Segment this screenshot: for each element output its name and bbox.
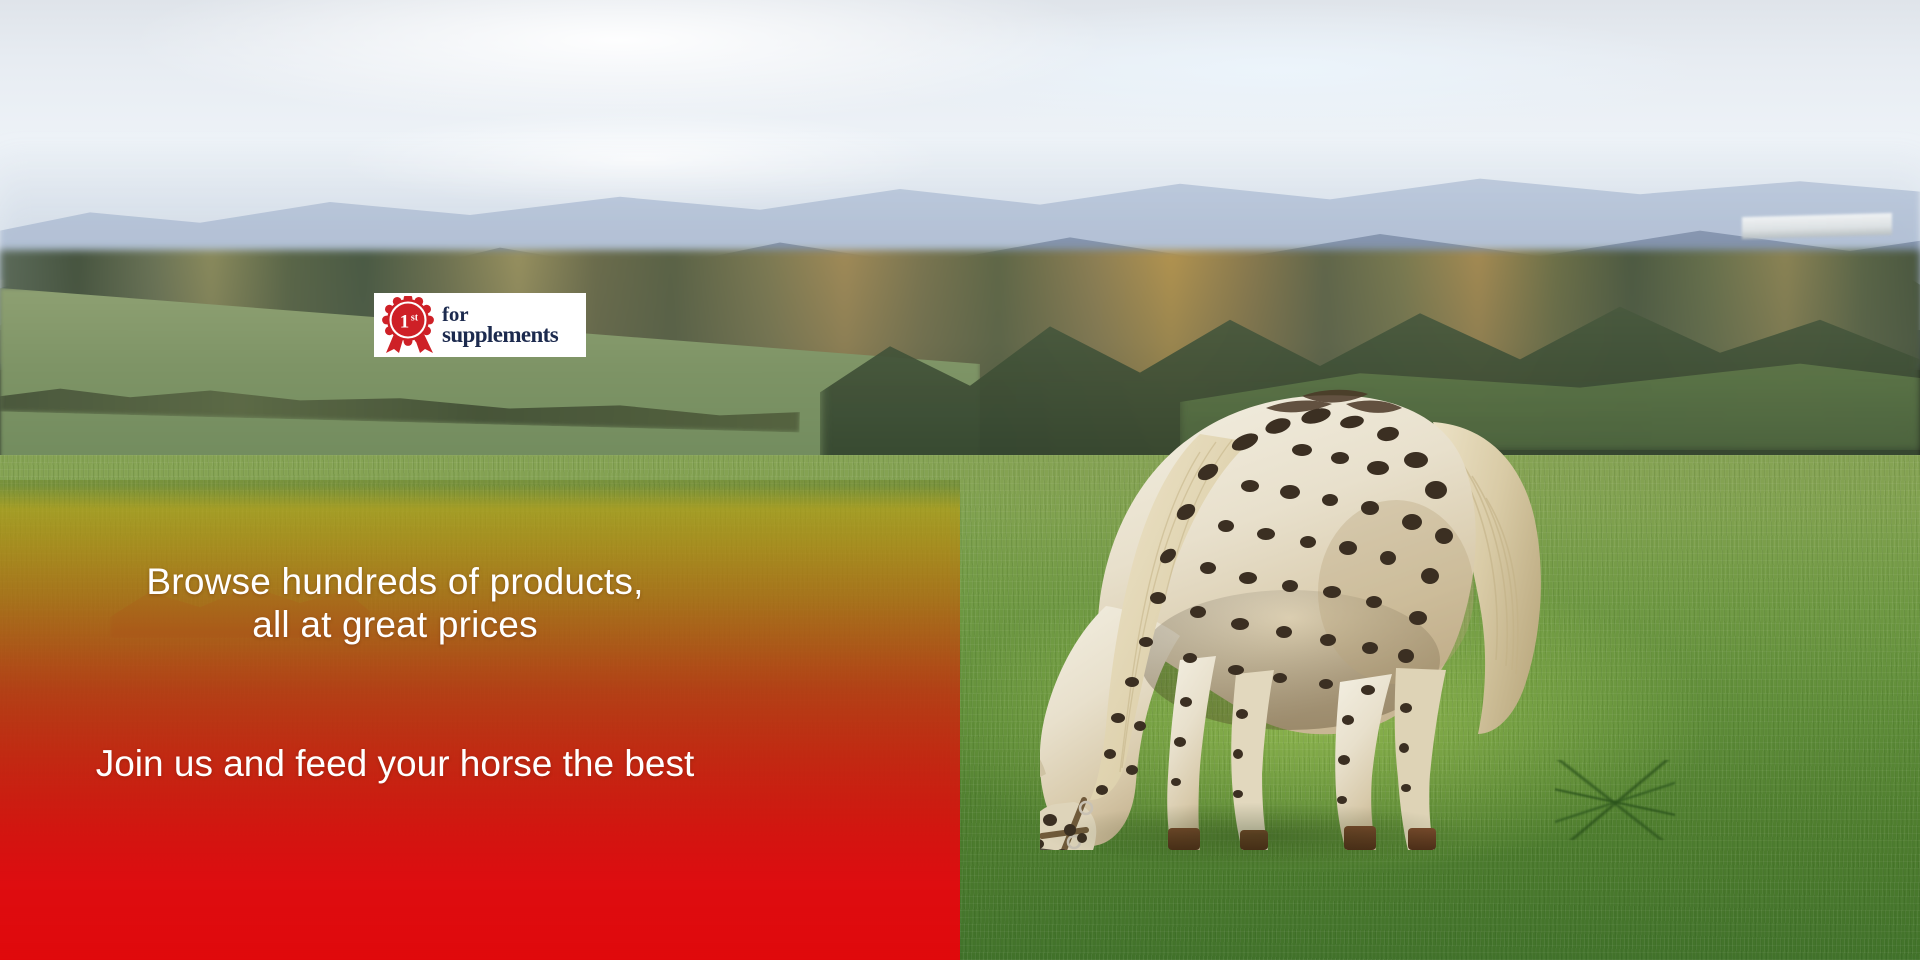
red-gradient-overlay-warm	[0, 480, 960, 960]
brand-wordmark: for supplements	[442, 304, 558, 346]
brand-word-for: for	[442, 304, 558, 324]
headline-line-2: all at great prices	[0, 603, 790, 646]
horse-ground-shadow	[960, 790, 1560, 880]
svg-text:1: 1	[400, 312, 410, 333]
tagline-text: Join us and feed your horse the best	[0, 742, 790, 785]
promo-banner[interactable]: 1 st for supplements Browse hundreds of …	[0, 0, 1920, 960]
rosette-badge-icon: 1 st	[380, 296, 436, 354]
grass-weed-clump	[1555, 760, 1675, 840]
headline-block: Browse hundreds of products, all at grea…	[0, 560, 790, 647]
brand-logo[interactable]: 1 st for supplements	[374, 293, 586, 357]
brand-word-supplements: supplements	[442, 324, 558, 346]
headline-line-1: Browse hundreds of products,	[0, 560, 790, 603]
farm-building	[1742, 213, 1892, 239]
svg-text:st: st	[411, 313, 419, 324]
